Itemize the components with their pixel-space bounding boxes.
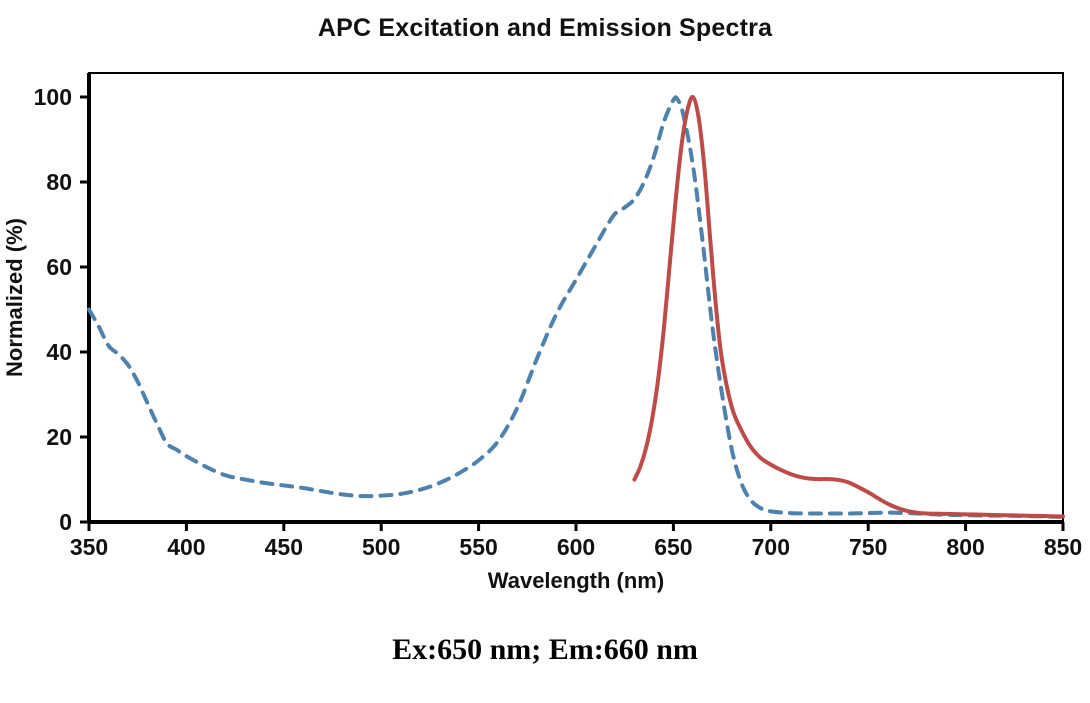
x-tick-label: 500 — [362, 534, 400, 560]
chart-caption: Ex:650 nm; Em:660 nm — [0, 633, 1090, 667]
x-axis-title: Wavelength (nm) — [488, 568, 664, 593]
series-emission-line — [634, 97, 1063, 517]
y-tick-label: 0 — [59, 509, 72, 535]
spectra-plot: 3504004505005506006507007508008500204060… — [0, 0, 1090, 703]
x-tick-label: 750 — [849, 534, 887, 560]
spectra-figure: APC Excitation and Emission Spectra 3504… — [0, 0, 1090, 703]
plot-frame — [89, 73, 1063, 522]
x-tick-label: 600 — [557, 534, 595, 560]
series-excitation-line — [89, 97, 1063, 517]
y-tick-label: 60 — [46, 254, 72, 280]
axes-layer — [80, 73, 1063, 531]
x-tick-label: 450 — [265, 534, 303, 560]
axis-labels-layer: 3504004505005506006507007508008500204060… — [2, 84, 1082, 593]
series-layer — [89, 97, 1063, 517]
y-tick-label: 80 — [46, 169, 72, 195]
y-tick-label: 100 — [34, 84, 72, 110]
x-tick-label: 800 — [946, 534, 984, 560]
y-tick-label: 40 — [46, 339, 72, 365]
x-tick-label: 850 — [1044, 534, 1082, 560]
x-tick-label: 350 — [70, 534, 108, 560]
y-axis-title: Normalized (%) — [2, 218, 27, 377]
x-tick-label: 650 — [654, 534, 692, 560]
x-tick-label: 550 — [459, 534, 497, 560]
x-tick-label: 700 — [752, 534, 790, 560]
x-tick-label: 400 — [167, 534, 205, 560]
y-tick-label: 20 — [46, 424, 72, 450]
